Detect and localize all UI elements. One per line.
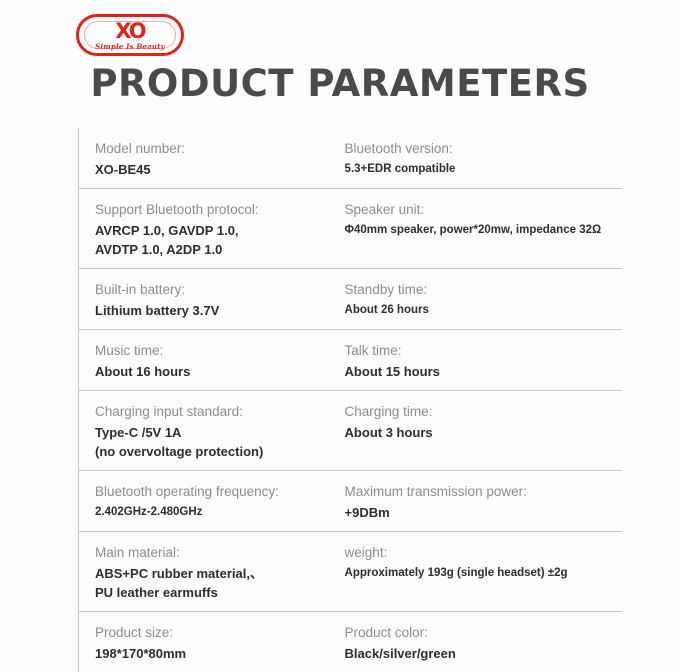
spec-cell-right: Talk time: About 15 hours	[329, 330, 622, 390]
spec-label: Model number:	[95, 138, 329, 160]
logo-tagline: Simple Is Beauty	[79, 43, 181, 51]
spec-label: Talk time:	[345, 340, 622, 362]
spec-cell-left: Built-in battery: Lithium battery 3.7V	[79, 269, 329, 329]
spec-cell-right: Bluetooth version: 5.3+EDR compatible	[329, 128, 622, 188]
logo-wordmark: XO	[79, 21, 181, 42]
logo-badge-outline: XO Simple Is Beauty	[76, 14, 184, 56]
table-row: Music time: About 16 hours Talk time: Ab…	[79, 330, 622, 391]
spec-value: 198*170*80mm	[95, 644, 329, 663]
spec-label: Music time:	[95, 340, 329, 362]
spec-value: XO-BE45	[95, 160, 329, 179]
spec-value-line2: PU leather earmuffs	[95, 583, 329, 602]
spec-label: Main material:	[95, 542, 329, 564]
spec-cell-right: Charging time: About 3 hours	[329, 391, 622, 470]
spec-value: About 3 hours	[345, 423, 622, 442]
spec-value: 2.402GHz-2.480GHz	[95, 503, 329, 522]
spec-cell-left: Main material: ABS+PC rubber material,、 …	[79, 532, 329, 611]
product-parameters-page: XO Simple Is Beauty PRODUCT PARAMETERS M…	[0, 0, 680, 630]
spec-cell-right: Maximum transmission power: +9DBm	[329, 471, 622, 531]
table-row: Charging input standard: Type-C /5V 1A (…	[79, 391, 622, 471]
spec-label: Support Bluetooth protocol:	[95, 199, 329, 221]
table-row: Support Bluetooth protocol: AVRCP 1.0, G…	[79, 189, 622, 269]
table-row: Built-in battery: Lithium battery 3.7V S…	[79, 269, 622, 330]
spec-cell-left: Product size: 198*170*80mm	[79, 612, 329, 672]
spec-cell-right: Standby time: About 26 hours	[329, 269, 622, 329]
spec-cell-left: Support Bluetooth protocol: AVRCP 1.0, G…	[79, 189, 329, 268]
spec-value: Lithium battery 3.7V	[95, 301, 329, 320]
spec-value-line2: (no overvoltage protection)	[95, 442, 329, 461]
spec-cell-left: Model number: XO-BE45	[79, 128, 329, 188]
spec-value: Type-C /5V 1A	[95, 423, 329, 442]
spec-value-line2: AVDTP 1.0, A2DP 1.0	[95, 240, 329, 259]
spec-value: Black/silver/green	[345, 644, 622, 663]
spec-value: 5.3+EDR compatible	[345, 160, 622, 179]
spec-cell-left: Bluetooth operating frequency: 2.402GHz-…	[79, 471, 329, 531]
table-row: Main material: ABS+PC rubber material,、 …	[79, 532, 622, 612]
spec-table: Model number: XO-BE45 Bluetooth version:…	[78, 128, 622, 672]
spec-value: AVRCP 1.0, GAVDP 1.0,	[95, 221, 329, 240]
spec-cell-right: weight: Approximately 193g (single heads…	[329, 532, 622, 611]
spec-label: Product color:	[345, 622, 622, 644]
spec-label: Product size:	[95, 622, 329, 644]
table-row: Model number: XO-BE45 Bluetooth version:…	[79, 128, 622, 189]
spec-value: About 26 hours	[345, 301, 622, 320]
page-title: PRODUCT PARAMETERS	[0, 62, 680, 105]
spec-label: Charging time:	[345, 401, 622, 423]
spec-label: Maximum transmission power:	[345, 481, 622, 503]
spec-value: +9DBm	[345, 503, 622, 522]
spec-value: ABS+PC rubber material,、	[95, 564, 329, 583]
spec-value: Φ40mm speaker, power*20mw, impedance 32Ω	[345, 221, 622, 240]
table-row: Product size: 198*170*80mm Product color…	[79, 612, 622, 672]
table-row: Bluetooth operating frequency: 2.402GHz-…	[79, 471, 622, 532]
spec-label: Bluetooth operating frequency:	[95, 481, 329, 503]
spec-value: About 15 hours	[345, 362, 622, 381]
spec-value: Approximately 193g (single headset) ±2g	[345, 564, 622, 583]
spec-label: Bluetooth version:	[345, 138, 622, 160]
spec-label: Standby time:	[345, 279, 622, 301]
spec-label: Charging input standard:	[95, 401, 329, 423]
brand-logo: XO Simple Is Beauty	[76, 14, 184, 58]
spec-cell-right: Product color: Black/silver/green	[329, 612, 622, 672]
spec-cell-left: Music time: About 16 hours	[79, 330, 329, 390]
spec-label: Speaker unit:	[345, 199, 622, 221]
spec-label: weight:	[345, 542, 622, 564]
spec-label: Built-in battery:	[95, 279, 329, 301]
spec-cell-right: Speaker unit: Φ40mm speaker, power*20mw,…	[329, 189, 622, 268]
spec-value: About 16 hours	[95, 362, 329, 381]
spec-cell-left: Charging input standard: Type-C /5V 1A (…	[79, 391, 329, 470]
